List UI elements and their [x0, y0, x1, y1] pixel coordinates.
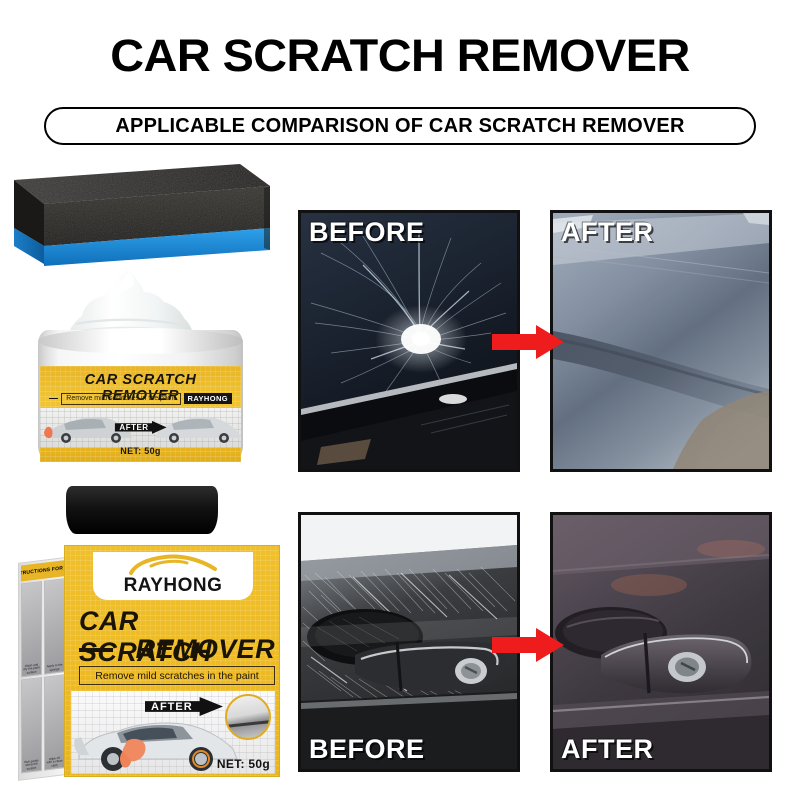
box-side-panel: INSTRUCTIONS FOR USE Wash and dry the pa… — [18, 557, 66, 781]
applicator-sponge — [8, 158, 278, 276]
comparison-panel-after-hood: AFTER — [550, 210, 772, 472]
instruction-step-text: Apply to the sponge — [46, 664, 63, 673]
panel-label-after: AFTER — [561, 217, 654, 248]
box-detail-inset — [225, 694, 271, 740]
instruction-step: Rub gently along the scratch — [21, 677, 42, 774]
dash-rule — [79, 648, 113, 652]
box-hero-photo: AFTER NET: 50g — [71, 691, 275, 774]
subtitle-banner: APPLICABLE COMPARISON OF CAR SCRATCH REM… — [44, 107, 756, 145]
product-comparison-poster: CAR SCRATCH REMOVER APPLICABLE COMPARISO… — [0, 0, 800, 800]
panel-label-before: BEFORE — [309, 734, 425, 765]
jar-label-tagline-row: Remove mild scratches in the paint RAYHO… — [49, 392, 232, 405]
panel-label-before: BEFORE — [309, 217, 425, 248]
subtitle-text: APPLICABLE COMPARISON OF CAR SCRATCH REM… — [115, 115, 684, 138]
red-arrow-top — [492, 325, 564, 359]
jar-label: CAR SCRATCH REMOVER Remove mild scratche… — [40, 366, 241, 462]
car-silhouette-icon — [127, 554, 219, 576]
dash-rule — [49, 398, 58, 400]
instruction-step-text: Wash and dry the paint surface — [23, 663, 40, 675]
product-jar: CAR SCRATCH REMOVER Remove mild scratche… — [18, 268, 258, 538]
jar-brand-badge: RAYHONG — [184, 393, 232, 404]
box-brand-text: RAYHONG — [124, 575, 223, 597]
instruction-step: Wash and dry the paint surface — [21, 581, 42, 678]
jar-lid-base — [66, 486, 218, 534]
box-title-line2: REMOVER — [119, 634, 275, 665]
page-title: CAR SCRATCH REMOVER — [0, 30, 800, 82]
product-box: INSTRUCTIONS FOR USE Wash and dry the pa… — [18, 545, 280, 780]
box-net-weight: NET: 50g — [217, 757, 270, 771]
comparison-panel-after-handle: AFTER — [550, 512, 772, 772]
jar-tagline: Remove mild scratches in the paint — [61, 393, 181, 405]
box-tagline: Remove mild scratches in the paint — [79, 666, 275, 685]
box-instruction-grid: Wash and dry the paint surface Apply to … — [21, 578, 65, 773]
box-front-panel: RAYHONG CAR SCRATCH REMOVER Remove mild … — [64, 545, 280, 777]
instruction-step-text: Wipe off with a clean cloth — [46, 756, 63, 768]
instruction-step: Wipe off with a clean cloth — [44, 674, 65, 771]
jar-before-after-strip: AFTER — [40, 408, 241, 448]
red-arrow-bottom — [492, 628, 564, 662]
jar-rim — [38, 328, 243, 354]
panel-label-after: AFTER — [561, 734, 654, 765]
box-brand-badge: RAYHONG — [93, 552, 253, 600]
box-title-line2-row: REMOVER — [79, 634, 275, 665]
instruction-step-text: Rub gently along the scratch — [23, 759, 40, 771]
comparison-panel-before-handle: BEFORE — [298, 512, 520, 772]
instruction-step: Apply to the sponge — [44, 578, 65, 675]
jar-net-weight: NET: 50g — [40, 446, 241, 456]
comparison-panel-before-hood: BEFORE — [298, 210, 520, 472]
